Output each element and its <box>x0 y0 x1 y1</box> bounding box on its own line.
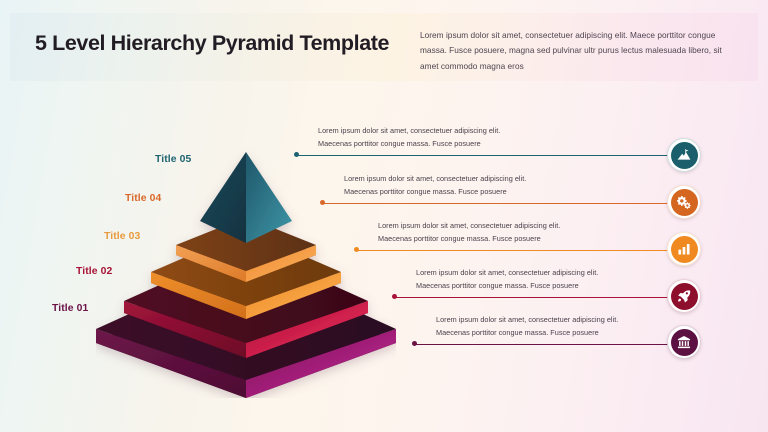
tier-label-01: Title 01 <box>52 303 88 314</box>
gears-icon <box>677 195 691 209</box>
connector-dot-05 <box>294 152 299 157</box>
connector-dot-03 <box>354 247 359 252</box>
icon-badge-inner-05 <box>671 142 698 169</box>
connector-line-03 <box>356 250 668 251</box>
tier-label-02: Title 02 <box>76 266 112 277</box>
rocket-icon <box>677 289 691 303</box>
connector-line-01 <box>414 344 668 345</box>
icon-badge-inner-03 <box>671 236 698 263</box>
detail-text-03: Lorem ipsum dolor sit amet, consectetuer… <box>378 219 593 246</box>
icon-badge-03[interactable] <box>667 232 701 266</box>
detail-text-05: Lorem ipsum dolor sit amet, consectetuer… <box>318 124 533 151</box>
tier-label-03: Title 03 <box>104 231 140 242</box>
icon-badge-inner-01 <box>671 329 698 356</box>
detail-row-05[interactable]: Lorem ipsum dolor sit amet, consectetuer… <box>296 124 668 170</box>
detail-row-04[interactable]: Lorem ipsum dolor sit amet, consectetuer… <box>322 172 668 218</box>
connector-line-04 <box>322 203 668 204</box>
icon-badge-04[interactable] <box>667 185 701 219</box>
icon-badge-01[interactable] <box>667 325 701 359</box>
connector-dot-02 <box>392 294 397 299</box>
detail-row-02[interactable]: Lorem ipsum dolor sit amet, consectetuer… <box>394 266 668 312</box>
mountain-flag-icon <box>677 148 691 162</box>
detail-text-04: Lorem ipsum dolor sit amet, consectetuer… <box>344 172 559 199</box>
detail-row-01[interactable]: Lorem ipsum dolor sit amet, consectetuer… <box>414 313 668 359</box>
icon-badge-05[interactable] <box>667 138 701 172</box>
bank-building-icon <box>677 335 691 349</box>
connector-line-02 <box>394 297 668 298</box>
connector-dot-01 <box>412 341 417 346</box>
header-description: Lorem ipsum dolor sit amet, consectetuer… <box>420 28 732 74</box>
slide-canvas: 5 Level Hierarchy Pyramid Template Lorem… <box>0 0 768 432</box>
page-title: 5 Level Hierarchy Pyramid Template <box>35 31 415 56</box>
icon-badge-inner-02 <box>671 283 698 310</box>
detail-text-02: Lorem ipsum dolor sit amet, consectetuer… <box>416 266 631 293</box>
tier-label-04: Title 04 <box>125 193 161 204</box>
detail-row-03[interactable]: Lorem ipsum dolor sit amet, consectetuer… <box>356 219 668 265</box>
connector-line-05 <box>296 155 668 156</box>
connector-dot-04 <box>320 200 325 205</box>
bar-chart-icon <box>677 242 691 256</box>
icon-badge-02[interactable] <box>667 279 701 313</box>
icon-badge-inner-04 <box>671 189 698 216</box>
tier-label-05: Title 05 <box>155 154 191 165</box>
detail-text-01: Lorem ipsum dolor sit amet, consectetuer… <box>436 313 651 340</box>
